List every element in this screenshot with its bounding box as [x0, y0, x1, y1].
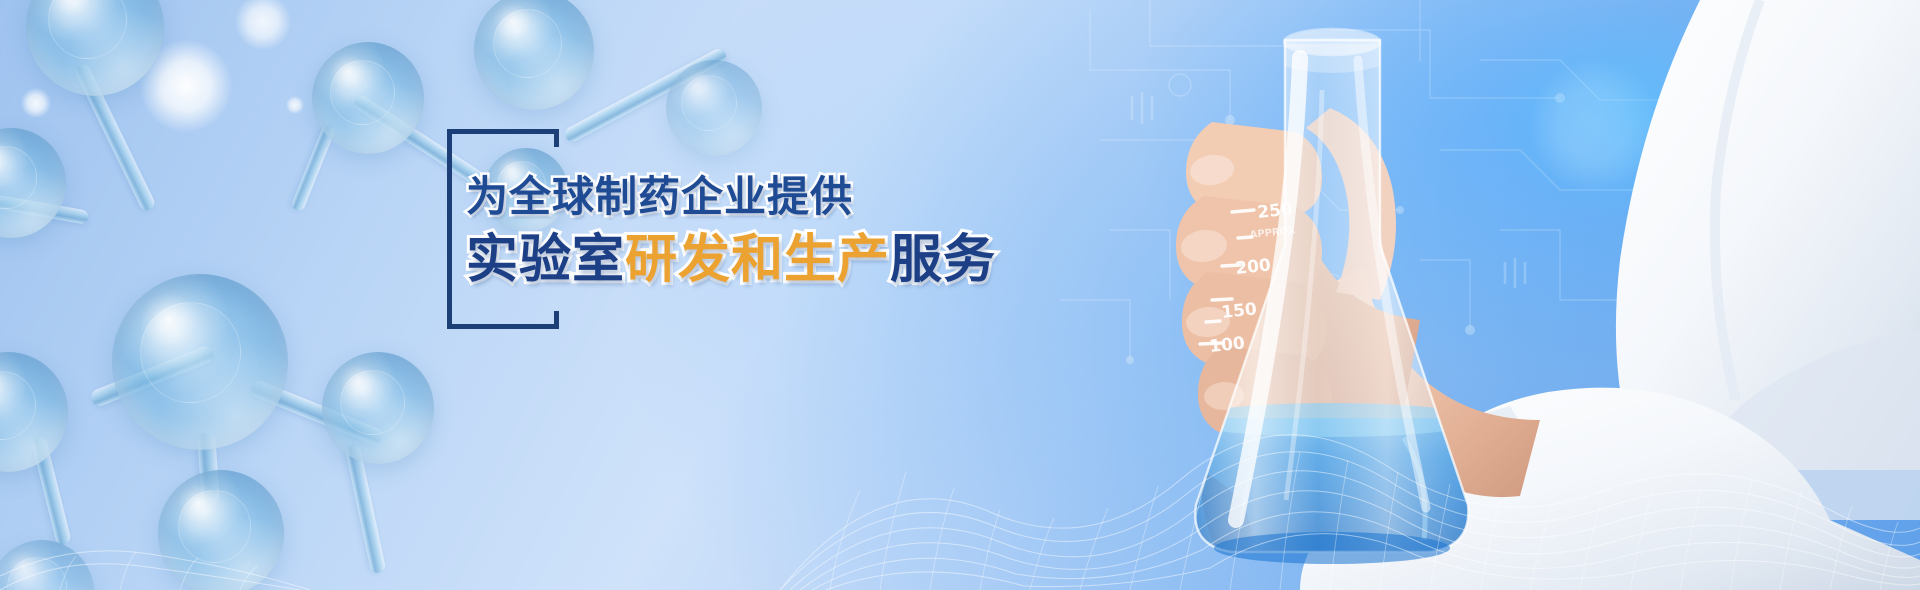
hero-banner: 250 APPROX 200 150 100	[0, 0, 1920, 590]
headline-segment-service: 服务	[890, 230, 996, 290]
headline-line-2: 实验室研发和生产服务	[466, 234, 986, 286]
molecule-sphere	[0, 352, 68, 472]
bracket-tip-bottom	[554, 311, 559, 329]
svg-text:250: 250	[1256, 199, 1294, 223]
headline-block: 为全球制药企业提供 实验室研发和生产服务	[466, 176, 986, 286]
erlenmeyer-flask: 250 APPROX 200 150 100	[1150, 29, 1520, 564]
molecule-sphere	[0, 128, 66, 238]
bokeh-light	[1530, 60, 1660, 190]
bokeh-light	[21, 88, 51, 118]
bokeh-light	[1695, 145, 1749, 199]
molecule-sphere	[158, 470, 284, 590]
headline-segment-rnd: 研发和生产	[625, 230, 890, 290]
svg-text:200: 200	[1234, 255, 1272, 279]
headline-line-1: 为全球制药企业提供	[466, 176, 986, 218]
svg-text:150: 150	[1220, 299, 1258, 323]
hand-holding-flask	[1176, 108, 1540, 497]
molecule-sphere	[112, 274, 288, 450]
molecule-sphere	[322, 352, 434, 464]
molecule-sphere	[312, 42, 424, 154]
svg-text:APPROX: APPROX	[1249, 225, 1296, 241]
circuit-pattern	[0, 0, 1920, 590]
molecule-sphere	[666, 60, 762, 156]
molecule-sphere	[474, 0, 594, 110]
svg-text:100: 100	[1208, 333, 1246, 357]
molecule-sphere	[26, 0, 164, 96]
headline-segment-lab: 实验室	[466, 230, 625, 290]
bokeh-light	[235, 0, 291, 50]
molecule-sphere	[0, 540, 94, 590]
bracket-tip-top	[554, 129, 559, 147]
bokeh-light	[286, 96, 304, 114]
lab-coat	[1300, 0, 1920, 590]
lab-photo-composite: 250 APPROX 200 150 100	[0, 0, 1920, 590]
